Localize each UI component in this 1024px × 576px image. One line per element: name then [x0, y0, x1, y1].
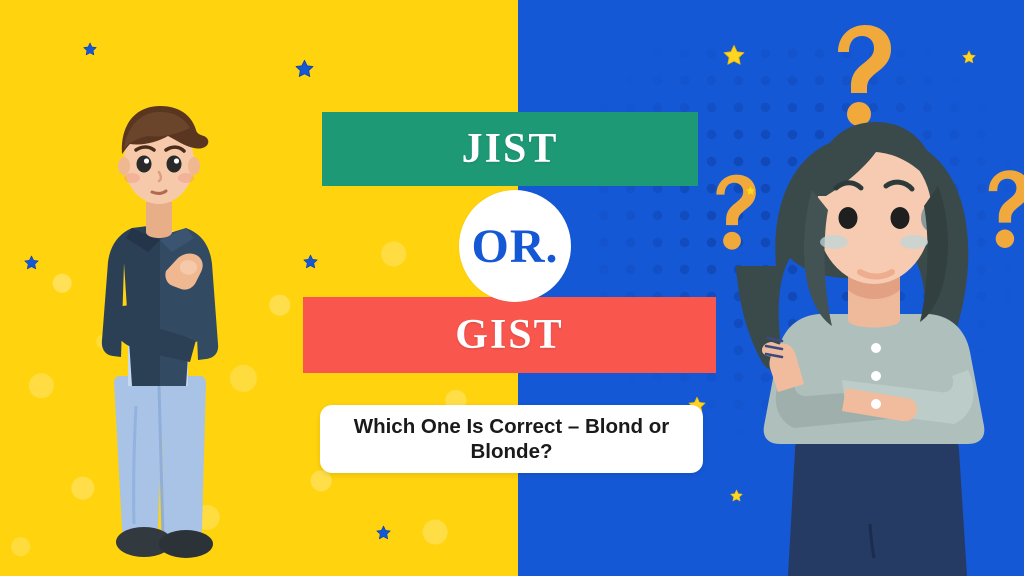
option-banner-jist[interactable]: JIST [322, 112, 698, 186]
option-label-gist: GIST [455, 311, 563, 359]
thumbnail-canvas: JIST GIST OR. Which One Is Correct – Blo… [0, 0, 1024, 576]
caption-card: Which One Is Correct – Blond or Blonde? [320, 405, 703, 473]
left-yellow-panel [0, 0, 518, 576]
or-divider-label: OR. [472, 219, 559, 274]
or-divider-badge: OR. [459, 190, 571, 302]
option-label-jist: JIST [462, 125, 559, 173]
option-banner-gist[interactable]: GIST [303, 297, 716, 373]
caption-title: Which One Is Correct – Blond or Blonde? [320, 414, 703, 464]
right-blue-panel [518, 0, 1024, 576]
